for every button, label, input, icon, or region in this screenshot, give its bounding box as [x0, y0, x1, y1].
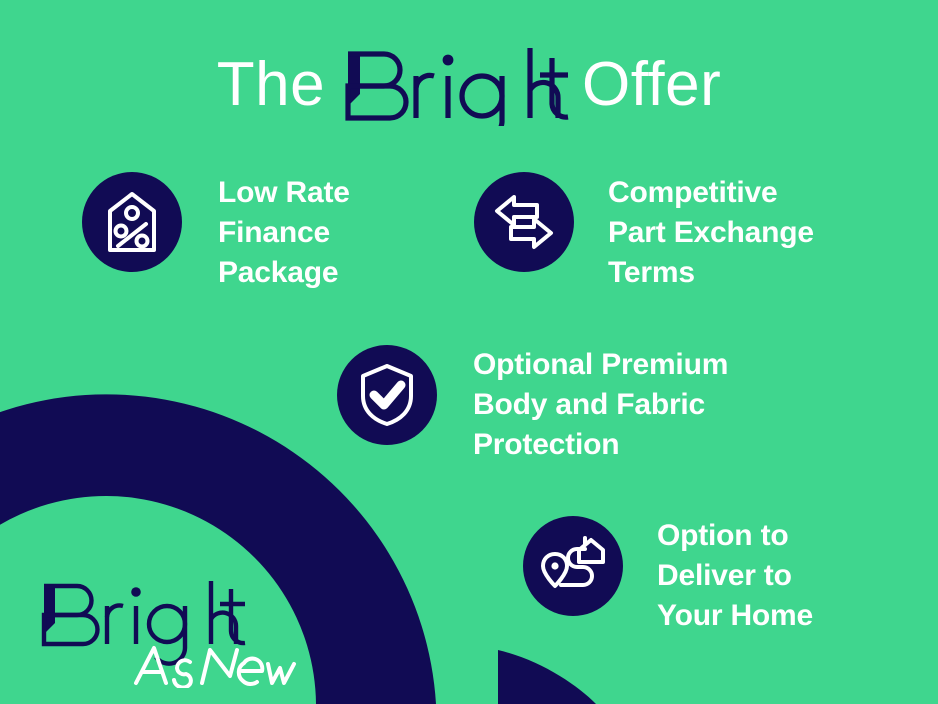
poster-canvas: The — [0, 0, 938, 704]
price-tag-percent-icon — [82, 172, 182, 272]
title-suffix: Offer — [582, 50, 721, 119]
feature-home-delivery: Option to Deliver to Your Home — [523, 516, 813, 636]
title-brand-wordmark — [338, 44, 570, 130]
navy-wedge — [498, 650, 596, 704]
brand-logo-bright-as-new — [38, 578, 298, 688]
page-title: The — [0, 42, 938, 128]
feature-low-rate-finance: Low Rate Finance Package — [82, 172, 350, 293]
title-prefix: The — [217, 50, 325, 119]
feature-body-fabric-protection: Optional Premium Body and Fabric Protect… — [337, 345, 728, 465]
feature-label: Low Rate Finance Package — [218, 172, 350, 293]
feature-part-exchange: Competitive Part Exchange Terms — [474, 172, 814, 293]
feature-label: Option to Deliver to Your Home — [657, 516, 813, 636]
feature-label: Optional Premium Body and Fabric Protect… — [473, 345, 728, 465]
exchange-arrows-icon — [474, 172, 574, 272]
feature-label: Competitive Part Exchange Terms — [608, 172, 814, 293]
delivery-route-home-icon — [523, 516, 623, 616]
shield-check-icon — [337, 345, 437, 445]
